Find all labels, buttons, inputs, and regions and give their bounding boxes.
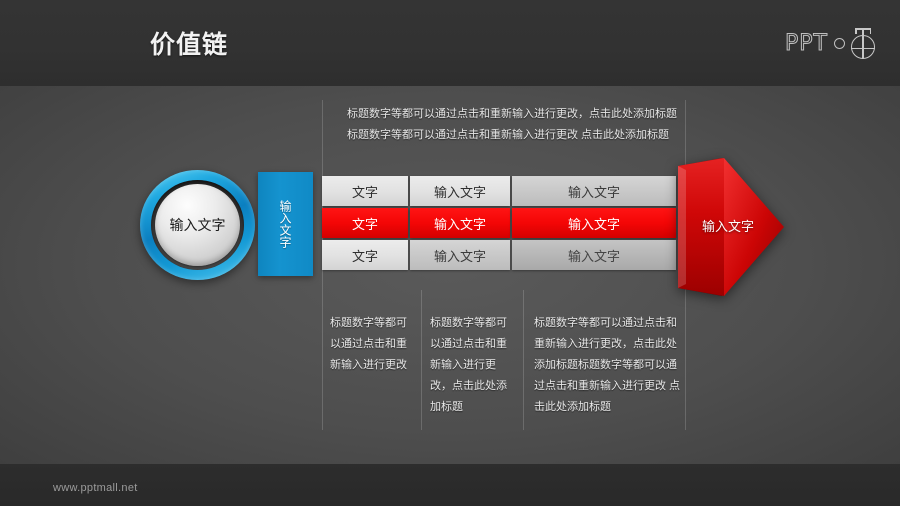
- matrix-cell[interactable]: 文字: [322, 208, 408, 238]
- matrix-row: 文字 输入文字 输入文字: [322, 240, 676, 270]
- pptmall-circle-mark-icon: [851, 28, 878, 59]
- matrix-row: 文字 输入文字 输入文字: [322, 208, 676, 238]
- matrix-cell[interactable]: 输入文字: [512, 240, 676, 270]
- circle-disc: 输入文字: [155, 184, 240, 266]
- page-title: 价值链: [150, 25, 228, 61]
- matrix-cell[interactable]: 输入文字: [410, 208, 510, 238]
- matrix-cell[interactable]: 输入文字: [410, 176, 510, 206]
- brand-logo: PPT: [785, 28, 878, 59]
- value-chain-matrix: 文字 输入文字 输入文字 文字 输入文字 输入文字 文字 输入文字 输入文字: [322, 176, 676, 272]
- bottom-caption-2: 标题数字等都可以通过点击和重新输入进行更改，点击此处添加标题: [430, 313, 516, 418]
- top-caption: 标题数字等都可以通过点击和重新输入进行更改，点击此处添加标题标题数字等都可以通过…: [347, 104, 677, 146]
- bottom-caption-3: 标题数字等都可以通过点击和重新输入进行更改，点击此处添加标题标题数字等都可以通过…: [534, 313, 682, 418]
- red-arrow-label: 输入文字: [692, 216, 764, 235]
- matrix-cell[interactable]: 输入文字: [512, 208, 676, 238]
- matrix-row: 文字 输入文字 输入文字: [322, 176, 676, 206]
- circle-node[interactable]: 输入文字: [140, 170, 255, 280]
- matrix-cell[interactable]: 文字: [322, 176, 408, 206]
- guide-line-3: [523, 290, 524, 430]
- matrix-cell[interactable]: 文字: [322, 240, 408, 270]
- guide-line-2: [421, 290, 422, 430]
- brand-text: PPT: [785, 33, 828, 55]
- slide-canvas: 价值链 PPT 标题数字等都可以通过点击和重新输入进行更改，点击此处添加标题标题…: [0, 0, 900, 506]
- blue-tab-label: 输入文字: [277, 200, 294, 248]
- footer-url[interactable]: www.pptmall.net: [53, 482, 138, 494]
- circle-node-label: 输入文字: [170, 215, 226, 235]
- brand-dot-icon: [834, 38, 845, 49]
- bottom-caption-1: 标题数字等都可以通过点击和重新输入进行更改: [330, 313, 414, 376]
- matrix-cell[interactable]: 输入文字: [512, 176, 676, 206]
- header-band: [0, 0, 900, 86]
- blue-tab[interactable]: 输入文字: [258, 172, 313, 276]
- red-arrow[interactable]: 输入文字: [678, 158, 784, 296]
- matrix-cell[interactable]: 输入文字: [410, 240, 510, 270]
